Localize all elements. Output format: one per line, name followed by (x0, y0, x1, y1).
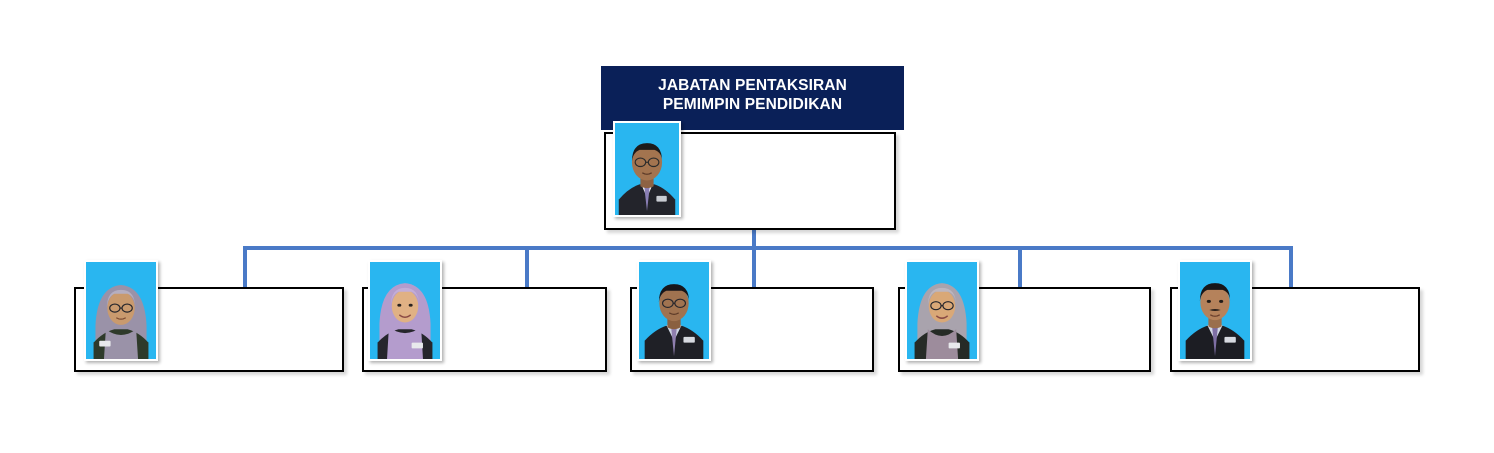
photo-moktar-bin-mokri (637, 260, 711, 361)
connector-drop-2 (525, 246, 529, 290)
photo-shahrul-nizam (1178, 260, 1252, 361)
photo-hazura-abdul-rahim (905, 260, 979, 361)
connector-drop-1 (243, 246, 247, 290)
connector-drop-4 (1018, 246, 1022, 290)
connector-drop-5 (1289, 246, 1293, 290)
photo-siti-sopori (84, 260, 158, 361)
photo-khairul-azuan (613, 121, 681, 217)
department-title: JABATAN PENTAKSIRAN PEMIMPIN PENDIDIKAN (601, 66, 904, 114)
connector-horizontal-bus (243, 246, 1293, 250)
connector-drop-3 (752, 246, 756, 290)
photo-wan-rosmini (368, 260, 442, 361)
org-chart: JABATAN PENTAKSIRAN PEMIMPIN PENDIDIKAN (0, 0, 1494, 453)
